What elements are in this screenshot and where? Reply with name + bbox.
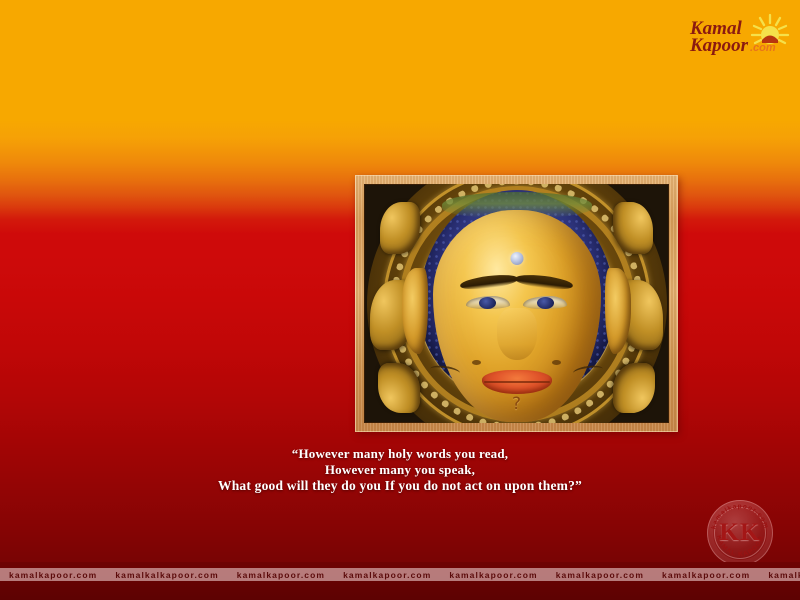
quote-block: “However many holy words you read, Howev… [0,446,800,494]
site-logo[interactable]: Kamal Kapoor .com [688,13,792,57]
footer-watermark-item: kamalkapoor.com [228,570,334,580]
logo-text-dotcom: .com [750,42,776,54]
footer-watermark-item: kamalkapoor.com [547,570,653,580]
chin-mark: ? [512,396,521,413]
footer-strip: kamalkapoor.comkamalkalkapoor.comkamalka… [0,562,800,600]
buddha-eye-left [466,296,510,309]
urna-forehead-jewel [510,252,523,265]
nostril-right [552,360,561,365]
picture-frame: ? [355,175,678,432]
footer-watermark-item: kamalkapoor.com [0,570,106,580]
buddha-eye-right [523,296,567,309]
wallpaper-canvas: Kamal Kapoor .com [0,0,800,600]
buddha-ear-left [402,268,428,354]
buddha-image: ? [364,184,669,423]
lip-division-line [484,381,550,383]
footer-watermark-item: kamalkapoor.com [440,570,546,580]
footer-watermark-item: kamalkapoor.com [759,570,800,580]
buddha-ear-right [605,268,631,354]
quote-line-1: “However many holy words you read, [0,446,800,462]
iris-right [537,297,554,309]
footer-watermark-item: kamalkapoor.com [334,570,440,580]
buddha-figure: ? [364,184,669,423]
buddha-nose [497,308,537,360]
seal-initials: KK [707,500,773,566]
logo-text-kapoor: Kapoor [689,35,749,56]
footer-watermark-item: kamalkalkapoor.com [106,570,227,580]
footer-watermark-item: kamalkapoor.com [653,570,759,580]
quote-line-2: However many you speak, [0,462,800,478]
quote-line-3: What good will they do you If you do not… [0,478,800,494]
logo-artwork: Kamal Kapoor .com [688,13,792,57]
kk-watermark-seal: kamalkapoor.com KAMAL KAPOOR KK [707,500,773,566]
iris-left [479,297,496,309]
footer-watermark-band: kamalkapoor.comkamalkalkapoor.comkamalka… [0,568,800,581]
nostril-left [472,360,481,365]
sun-icon [752,15,788,44]
